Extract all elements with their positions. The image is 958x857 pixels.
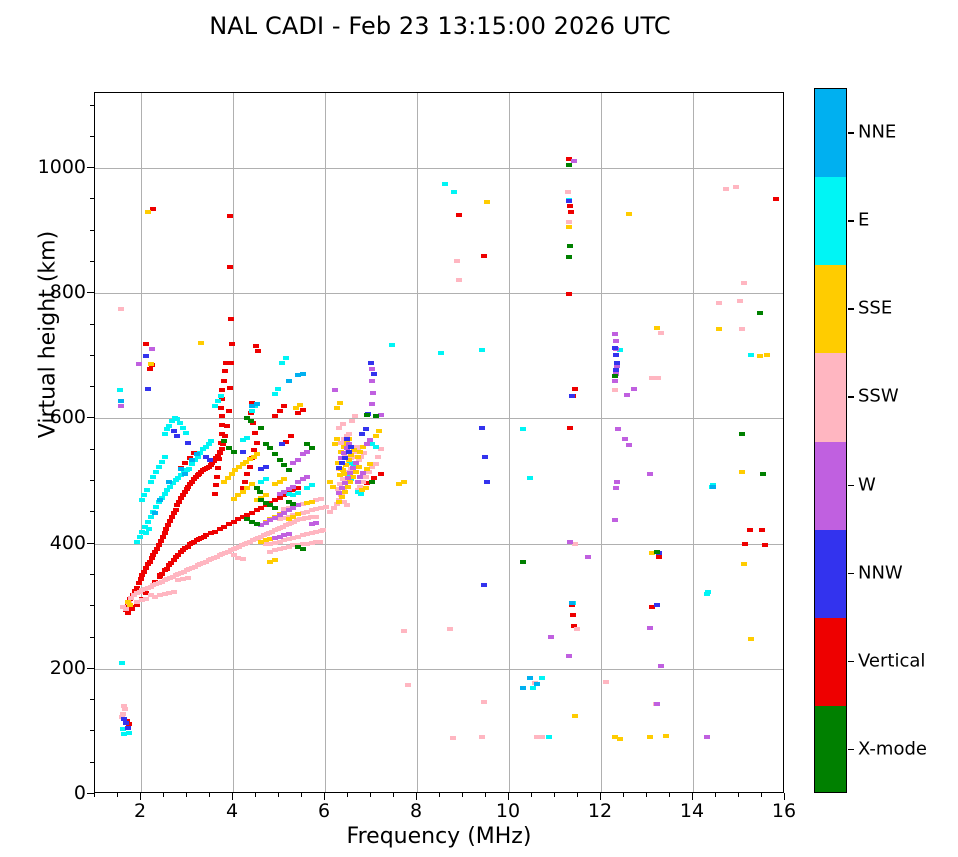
data-point [567, 540, 573, 544]
data-point [198, 341, 204, 345]
data-point [272, 392, 278, 396]
data-point [185, 441, 191, 445]
data-point [527, 476, 533, 480]
data-point [281, 477, 287, 481]
data-point [764, 353, 770, 357]
x-tick-major [508, 793, 509, 800]
data-point [369, 480, 375, 484]
data-point [367, 438, 373, 442]
x-tick-minor [255, 793, 256, 797]
data-point [334, 437, 340, 441]
y-tick-label: 200 [16, 657, 86, 679]
data-point [150, 553, 156, 557]
gridline-vertical [509, 93, 510, 792]
data-point [254, 452, 260, 456]
data-point [342, 481, 348, 485]
data-point [358, 492, 364, 496]
data-point [479, 426, 485, 430]
data-point [520, 427, 526, 431]
data-point [145, 387, 151, 391]
x-axis-label: Frequency (MHz) [94, 824, 784, 849]
data-point [546, 735, 552, 739]
data-point [129, 607, 135, 611]
colorbar-segment-w[interactable] [815, 442, 846, 530]
data-point [737, 299, 743, 303]
x-tick-minor [623, 793, 624, 797]
data-point [482, 455, 488, 459]
data-point [585, 555, 591, 559]
data-point [337, 401, 343, 405]
data-point [286, 532, 292, 536]
data-point [334, 406, 340, 410]
data-point [244, 436, 250, 440]
data-point [438, 351, 444, 355]
colorbar-label-nne: NNE [858, 122, 896, 143]
plot-area[interactable] [94, 92, 784, 793]
data-point [347, 480, 353, 484]
y-tick-minor [90, 637, 94, 638]
colorbar-label-nnw: NNW [858, 562, 903, 583]
data-point [626, 443, 632, 447]
data-point [614, 480, 620, 484]
data-point [223, 361, 229, 365]
x-tick-minor [117, 793, 118, 797]
data-point [612, 518, 618, 522]
data-point [567, 426, 573, 430]
data-point [336, 500, 342, 504]
colorbar-tick [848, 396, 854, 398]
data-point [275, 387, 281, 391]
data-point [283, 356, 289, 360]
data-point [481, 254, 487, 258]
data-point [214, 475, 220, 479]
data-point [300, 372, 306, 376]
data-point [162, 455, 168, 459]
data-point [389, 343, 395, 347]
x-tick-minor [738, 793, 739, 797]
gridline-horizontal [95, 418, 783, 419]
data-point [309, 483, 315, 487]
data-point [566, 163, 572, 167]
data-point [164, 567, 170, 571]
data-point [357, 475, 363, 479]
data-point [375, 455, 381, 459]
data-point [739, 327, 745, 331]
data-point [762, 543, 768, 547]
x-tick-major [232, 793, 233, 800]
data-point [118, 404, 124, 408]
data-point [654, 550, 660, 554]
data-point [350, 466, 356, 470]
data-point [152, 511, 158, 515]
data-point [451, 190, 457, 194]
data-point [654, 702, 660, 706]
data-point [136, 362, 142, 366]
colorbar-segment-sse[interactable] [815, 265, 846, 353]
data-point [164, 488, 170, 492]
data-point [615, 427, 621, 431]
data-point [364, 442, 370, 446]
data-point [569, 394, 575, 398]
data-point [244, 472, 250, 476]
data-point [127, 603, 133, 607]
data-point [331, 506, 337, 510]
data-point [163, 527, 169, 531]
data-point [705, 590, 711, 594]
data-point [149, 347, 155, 351]
data-point [207, 458, 213, 462]
colorbar-segment-x-mode[interactable] [815, 706, 846, 793]
data-point [355, 455, 361, 459]
data-point [320, 528, 326, 532]
data-point [655, 376, 661, 380]
y-tick-minor [90, 605, 94, 606]
data-point [339, 495, 345, 499]
data-point [119, 661, 125, 665]
data-point [267, 446, 273, 450]
data-point [614, 361, 620, 365]
data-point [232, 468, 238, 472]
data-point [221, 379, 227, 383]
data-point [574, 627, 580, 631]
colorbar-label-e: E [858, 210, 869, 231]
data-point [759, 528, 765, 532]
data-point [158, 539, 164, 543]
data-point [300, 408, 306, 412]
x-tick-minor [669, 793, 670, 797]
data-point [255, 349, 261, 353]
data-point [378, 472, 384, 476]
data-point [148, 480, 154, 484]
data-point [613, 339, 619, 343]
data-point [527, 676, 533, 680]
x-tick-minor [94, 793, 95, 797]
data-point [253, 344, 259, 348]
data-point [295, 512, 301, 516]
data-point [227, 386, 233, 390]
data-point [344, 437, 350, 441]
data-point [263, 493, 269, 497]
data-point [146, 527, 152, 531]
gridline-horizontal [95, 168, 783, 169]
data-point [456, 213, 462, 217]
y-axis-label: Virtual height (km) [36, 145, 61, 525]
data-point [143, 354, 149, 358]
data-point [182, 472, 188, 476]
y-tick-major [87, 292, 94, 293]
data-point [371, 372, 377, 376]
gridline-vertical [601, 93, 602, 792]
data-point [286, 379, 292, 383]
data-point [342, 490, 348, 494]
data-point [218, 394, 224, 398]
data-point [654, 603, 660, 607]
x-tick-minor [278, 793, 279, 797]
data-point [656, 555, 662, 559]
ionogram-figure: NAL CADI - Feb 23 13:15:00 2026 UTC 2468… [0, 0, 958, 857]
data-point [733, 185, 739, 189]
colorbar-segment-e[interactable] [815, 177, 846, 265]
data-point [631, 387, 637, 391]
y-tick-minor [90, 699, 94, 700]
data-point [148, 515, 154, 519]
x-tick-minor [577, 793, 578, 797]
data-point [658, 331, 664, 335]
data-point [240, 490, 246, 494]
data-point [164, 427, 170, 431]
x-tick-label: 16 [772, 800, 796, 822]
data-point [370, 391, 376, 395]
colorbar-segment-ssw[interactable] [815, 353, 846, 441]
data-point [185, 576, 191, 580]
data-point [626, 212, 632, 216]
data-point [348, 453, 354, 457]
data-point [134, 603, 140, 607]
gridline-vertical [417, 93, 418, 792]
data-point [117, 388, 123, 392]
data-point [228, 317, 234, 321]
y-tick-major [87, 793, 94, 794]
data-point [332, 442, 338, 446]
data-point [566, 220, 572, 224]
data-point [567, 204, 573, 208]
data-point [123, 607, 129, 611]
y-tick-major [87, 543, 94, 544]
data-point [304, 475, 310, 479]
data-point [249, 409, 255, 413]
data-point [342, 456, 348, 460]
y-tick-minor [90, 730, 94, 731]
x-tick-minor [761, 793, 762, 797]
data-point [147, 367, 153, 371]
data-point [215, 466, 221, 470]
data-point [339, 461, 345, 465]
data-point [247, 465, 253, 469]
data-point [254, 402, 260, 406]
data-point [177, 421, 183, 425]
data-point [201, 535, 207, 539]
data-point [757, 354, 763, 358]
y-tick-minor [90, 230, 94, 231]
gridline-horizontal [95, 544, 783, 545]
data-point [229, 342, 235, 346]
data-point [225, 476, 231, 480]
data-point [174, 503, 180, 507]
gridline-vertical [233, 93, 234, 792]
gridline-horizontal [95, 293, 783, 294]
data-point [121, 704, 127, 708]
y-tick-label: 400 [16, 532, 86, 554]
data-point [344, 503, 350, 507]
data-point [231, 450, 237, 454]
x-tick-label: 6 [318, 800, 330, 822]
x-tick-minor [347, 793, 348, 797]
y-tick-minor [90, 198, 94, 199]
x-tick-label: 12 [588, 800, 612, 822]
colorbar-segment-nnw[interactable] [815, 530, 846, 618]
x-tick-major [324, 793, 325, 800]
data-point [141, 570, 147, 574]
data-point [189, 462, 195, 466]
data-point [215, 399, 221, 403]
data-point [442, 182, 448, 186]
data-point [216, 457, 222, 461]
data-point [539, 735, 545, 739]
data-point [219, 432, 225, 436]
colorbar-label-w: W [858, 474, 876, 495]
data-point [520, 560, 526, 564]
data-point [363, 486, 369, 490]
data-point [336, 426, 342, 430]
data-point [162, 492, 168, 496]
y-tick-minor [90, 574, 94, 575]
colorbar[interactable] [814, 88, 847, 793]
data-point [143, 597, 149, 601]
data-point [208, 439, 214, 443]
data-point [612, 374, 618, 378]
data-point [263, 465, 269, 469]
data-point [277, 409, 283, 413]
colorbar-label-x-mode: X-mode [858, 738, 927, 759]
x-tick-minor [209, 793, 210, 797]
data-point [567, 244, 573, 248]
data-point [742, 542, 748, 546]
data-point [156, 543, 162, 547]
colorbar-segment-vertical[interactable] [815, 618, 846, 706]
data-point [279, 361, 285, 365]
data-point [227, 214, 233, 218]
data-point [450, 736, 456, 740]
y-tick-minor [90, 324, 94, 325]
data-point [219, 414, 225, 418]
x-tick-major [140, 793, 141, 800]
data-point [566, 199, 572, 203]
data-point [364, 413, 370, 417]
data-point [658, 664, 664, 668]
data-point [484, 480, 490, 484]
x-tick-minor [439, 793, 440, 797]
page-title: NAL CADI - Feb 23 13:15:00 2026 UTC [0, 12, 880, 40]
data-point [272, 452, 278, 456]
colorbar-tick [848, 661, 854, 663]
data-point [479, 735, 485, 739]
data-point [126, 731, 132, 735]
data-point [760, 472, 766, 476]
data-point [231, 497, 237, 501]
data-point [252, 431, 258, 435]
data-point [157, 498, 163, 502]
data-point [226, 409, 232, 413]
data-point [373, 434, 379, 438]
data-point [405, 683, 411, 687]
x-tick-major [416, 793, 417, 800]
data-point [710, 485, 716, 489]
data-point [219, 423, 225, 427]
y-tick-major [87, 668, 94, 669]
data-point [178, 467, 184, 471]
data-point [647, 472, 653, 476]
data-point [360, 480, 366, 484]
data-point [156, 465, 162, 469]
data-point [484, 200, 490, 204]
data-point [612, 388, 618, 392]
data-point [741, 281, 747, 285]
data-point [148, 362, 154, 366]
data-point [612, 346, 618, 350]
data-point [313, 521, 319, 525]
x-tick-minor [462, 793, 463, 797]
data-point [167, 485, 173, 489]
data-point [373, 414, 379, 418]
data-point [566, 292, 572, 296]
data-point [143, 566, 149, 570]
data-point [150, 475, 156, 479]
data-point [309, 500, 315, 504]
data-point [617, 737, 623, 741]
data-point [359, 432, 365, 436]
data-point [716, 301, 722, 305]
data-point [548, 635, 554, 639]
data-point [240, 450, 246, 454]
x-tick-minor [163, 793, 164, 797]
data-point [363, 475, 369, 479]
data-point [336, 491, 342, 495]
data-point [373, 445, 379, 449]
data-point [240, 557, 246, 561]
data-point [332, 388, 338, 392]
data-point [739, 432, 745, 436]
colorbar-segment-nne[interactable] [815, 89, 846, 177]
y-tick-minor [90, 261, 94, 262]
data-point [171, 590, 177, 594]
data-point [160, 535, 166, 539]
data-point [281, 463, 287, 467]
data-point [401, 629, 407, 633]
x-tick-label: 10 [496, 800, 520, 822]
data-point [263, 477, 269, 481]
data-point [173, 508, 179, 512]
y-tick-minor [90, 511, 94, 512]
data-point [159, 572, 165, 576]
data-point [218, 406, 224, 410]
data-point [281, 404, 287, 408]
data-point [323, 505, 329, 509]
data-point [143, 531, 149, 535]
x-tick-minor [554, 793, 555, 797]
data-point [221, 480, 227, 484]
data-point [716, 327, 722, 331]
data-point [162, 531, 168, 535]
x-tick-minor [301, 793, 302, 797]
y-tick-minor [90, 762, 94, 763]
data-point [242, 480, 248, 484]
data-point [479, 348, 485, 352]
data-point [368, 361, 374, 365]
y-tick-minor [90, 386, 94, 387]
data-point [153, 470, 159, 474]
data-point [704, 735, 710, 739]
data-point [357, 450, 363, 454]
data-point [345, 476, 351, 480]
data-point [122, 707, 128, 711]
data-point [327, 510, 333, 514]
data-point [369, 367, 375, 371]
data-point [147, 560, 153, 564]
y-tick-minor [90, 355, 94, 356]
colorbar-tick [848, 220, 854, 222]
data-point [663, 734, 669, 738]
data-point [345, 485, 351, 489]
